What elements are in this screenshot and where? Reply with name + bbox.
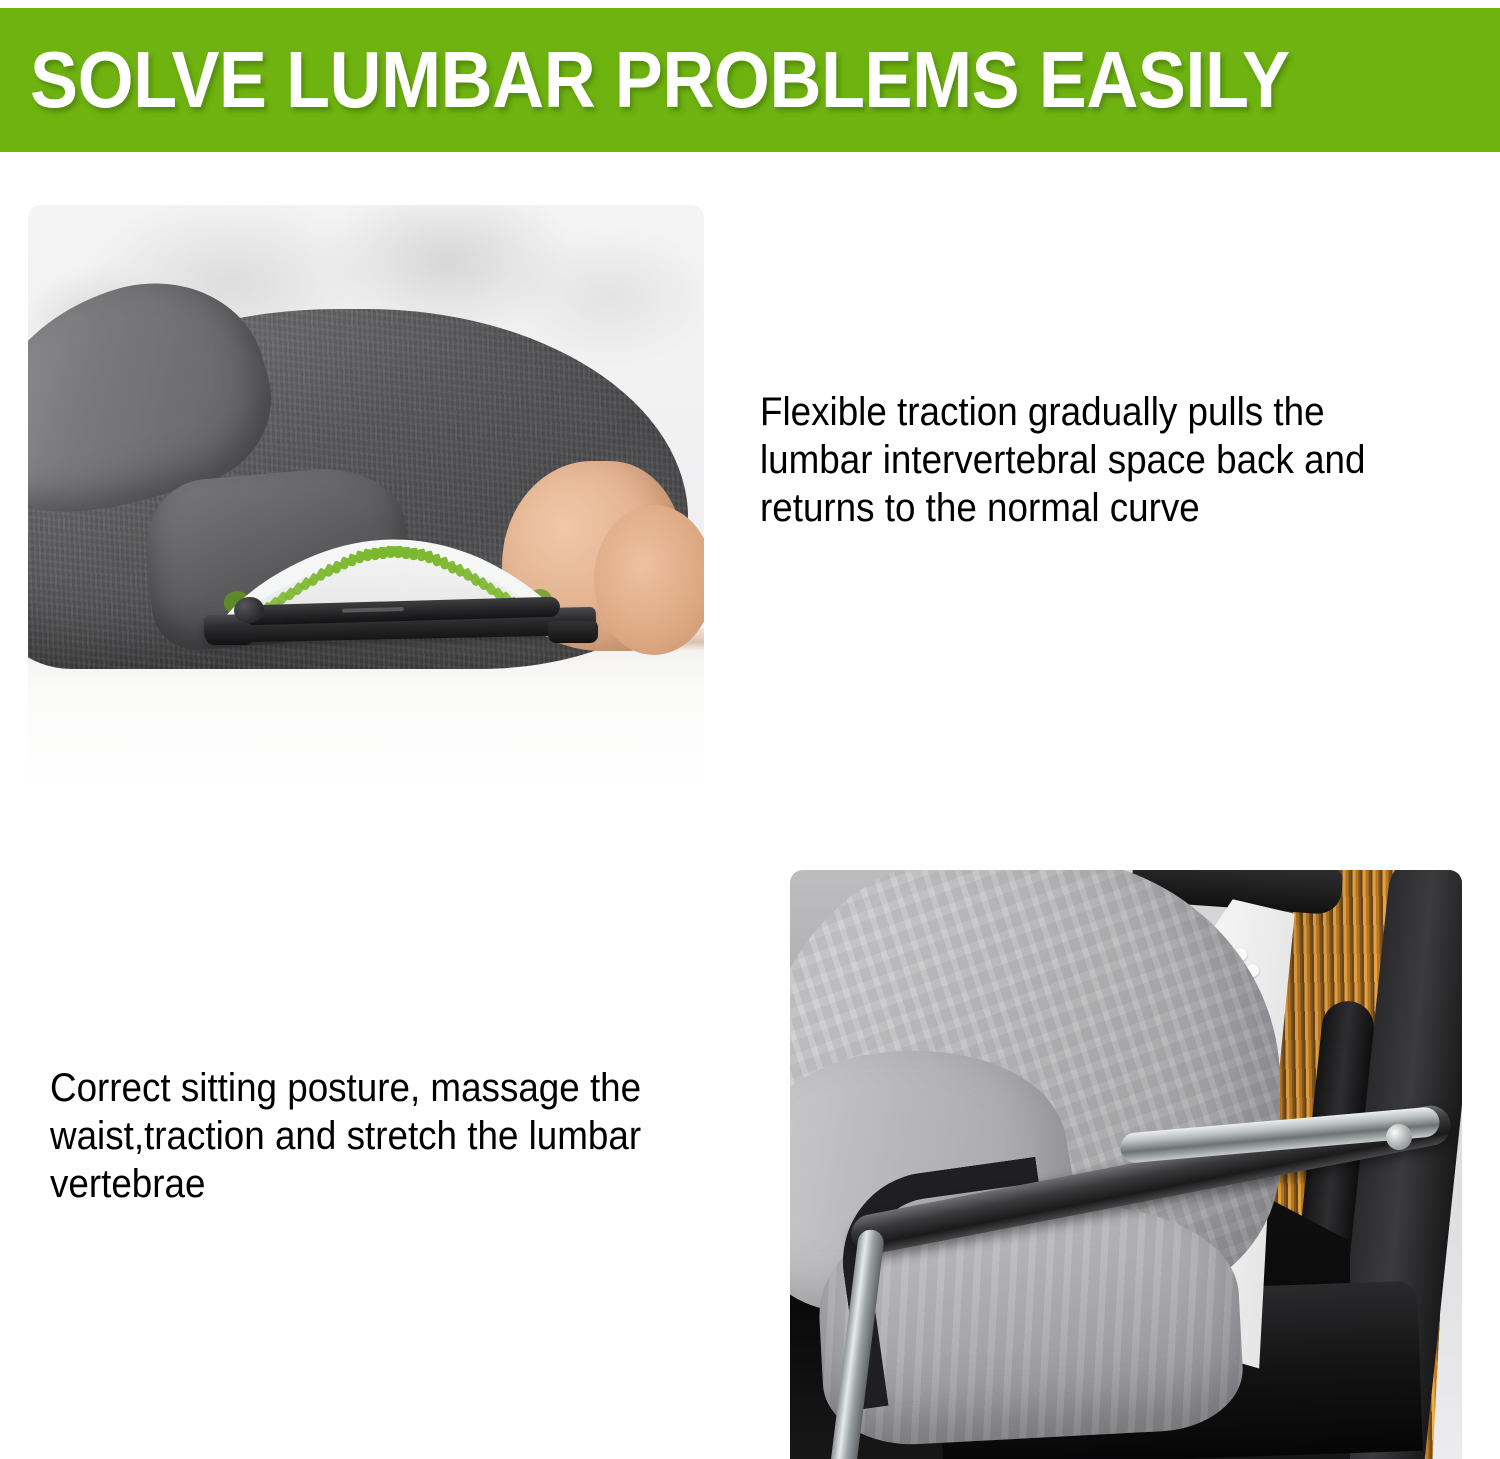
photo1-person-skin-secondary — [594, 505, 704, 655]
photo1-stretcher-foot-right — [548, 621, 598, 643]
feature-image-correct-sitting-posture — [790, 870, 1462, 1459]
photo1-stretcher-foot-left — [206, 625, 254, 645]
feature-image-flexible-traction — [28, 205, 704, 794]
header-banner: SOLVE LUMBAR PROBLEMS EASILY — [0, 8, 1500, 152]
feature-caption-correct-sitting-posture: Correct sitting posture, massage the wai… — [50, 1064, 694, 1208]
banner-title: SOLVE LUMBAR PROBLEMS EASILY — [30, 40, 1290, 120]
feature-caption-flexible-traction: Flexible traction gradually pulls the lu… — [760, 388, 1404, 532]
